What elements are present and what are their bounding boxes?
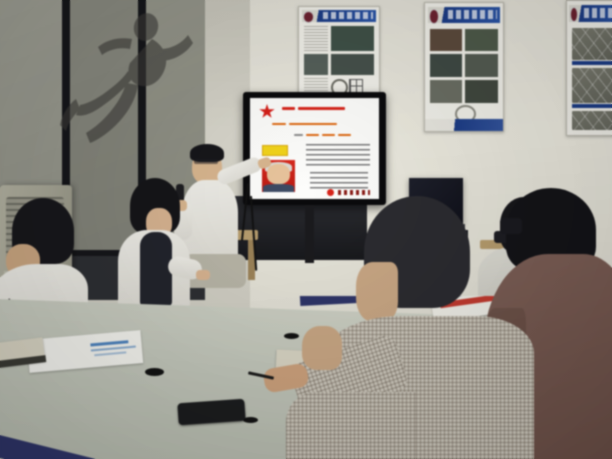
cpc-party-emblem-icon [259, 104, 275, 119]
poster-header-text [584, 8, 612, 17]
slide-subheading-text [289, 123, 337, 125]
slide-body-text [306, 144, 370, 167]
slide-subheading-text [272, 123, 286, 125]
wall-poster-1 [298, 6, 380, 104]
slide-subheading-text [306, 134, 319, 136]
smartphone[interactable] [177, 399, 245, 426]
poster-map-image [572, 28, 612, 60]
poster-map-image [572, 68, 612, 103]
portrait-face [267, 164, 289, 184]
slide-subheading-text [338, 134, 351, 136]
wall-mounted-flat-panel-display[interactable] [243, 92, 386, 205]
slide-subheading-text [294, 134, 303, 136]
poster-seal-icon [303, 11, 314, 23]
slide-heading-text [298, 107, 345, 110]
institute-logo-icon [327, 189, 334, 196]
institute-logo-text [338, 190, 370, 195]
hand [196, 270, 210, 280]
poster-map-image [572, 111, 612, 130]
poster-photo [430, 54, 462, 77]
presentation-slide [250, 98, 379, 199]
display-stand-post [305, 205, 314, 263]
poster-photo [465, 54, 497, 77]
slide-subheading-text [322, 134, 335, 136]
slide-body-text [310, 172, 368, 189]
paper-accent-band [94, 351, 126, 356]
meeting-room-photo [0, 0, 612, 459]
poster-footer-bar [425, 119, 503, 131]
poster-photo [331, 26, 374, 51]
cable-grommet[interactable] [284, 333, 299, 339]
poster-caption-bar [572, 104, 612, 108]
eyeglasses-icon [194, 159, 218, 164]
wall-poster-3-map [566, 0, 612, 136]
writing-hand-foreground [250, 358, 314, 404]
poster-header-text [448, 10, 496, 19]
poster-photo [430, 80, 462, 103]
person-attendee-front-center [316, 196, 531, 459]
vest [140, 232, 172, 306]
poster-photo [331, 54, 374, 75]
face-profile [356, 262, 398, 322]
portrait-body [263, 184, 293, 192]
poster-seal-icon [429, 9, 440, 24]
person-attendee-left-woman [112, 178, 194, 308]
wall-poster-2 [424, 2, 504, 132]
slide-highlight-box [262, 145, 288, 156]
poster-photo [304, 54, 328, 75]
poster-caption-bar [572, 61, 612, 65]
slide-heading-text [282, 107, 295, 110]
poster-photo [465, 80, 497, 103]
poster-photo [430, 29, 462, 52]
pointing-arm [215, 155, 263, 186]
poster-text-block [304, 26, 328, 51]
poster-photo [465, 29, 497, 52]
poster-header-text [323, 12, 373, 19]
cable-grommet[interactable] [145, 368, 164, 376]
paper-accent-band [91, 346, 137, 352]
